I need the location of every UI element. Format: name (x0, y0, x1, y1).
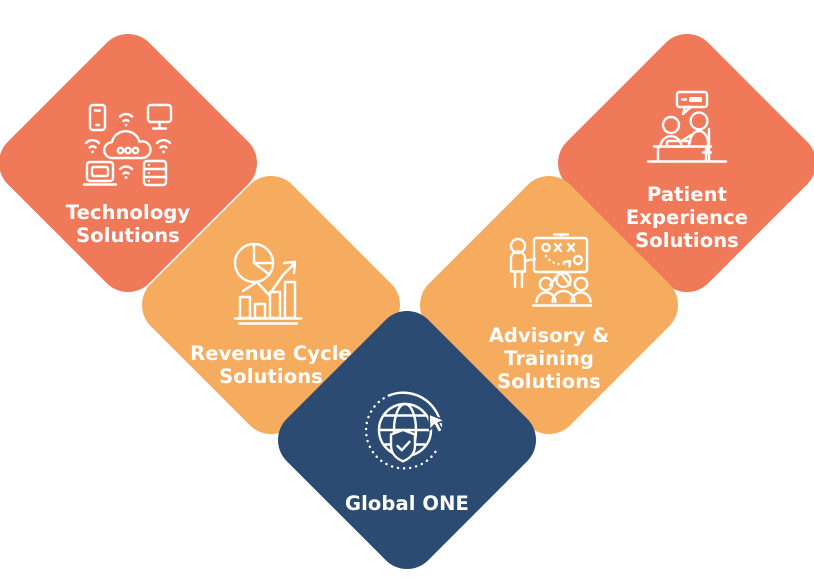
training-presentation-icon (506, 230, 592, 310)
node-label-global-one: Global ONE (345, 492, 469, 515)
cloud-network-devices-icon (82, 102, 174, 188)
node-global-one[interactable]: Global ONE (307, 340, 507, 540)
globe-shield-check-icon (365, 388, 449, 472)
diagram-canvas: Technology Solutions (0, 0, 814, 565)
node-content-global-one: Global ONE (307, 340, 507, 540)
bar-chart-growth-icon (231, 242, 311, 326)
consultation-desk-icon (645, 89, 729, 171)
